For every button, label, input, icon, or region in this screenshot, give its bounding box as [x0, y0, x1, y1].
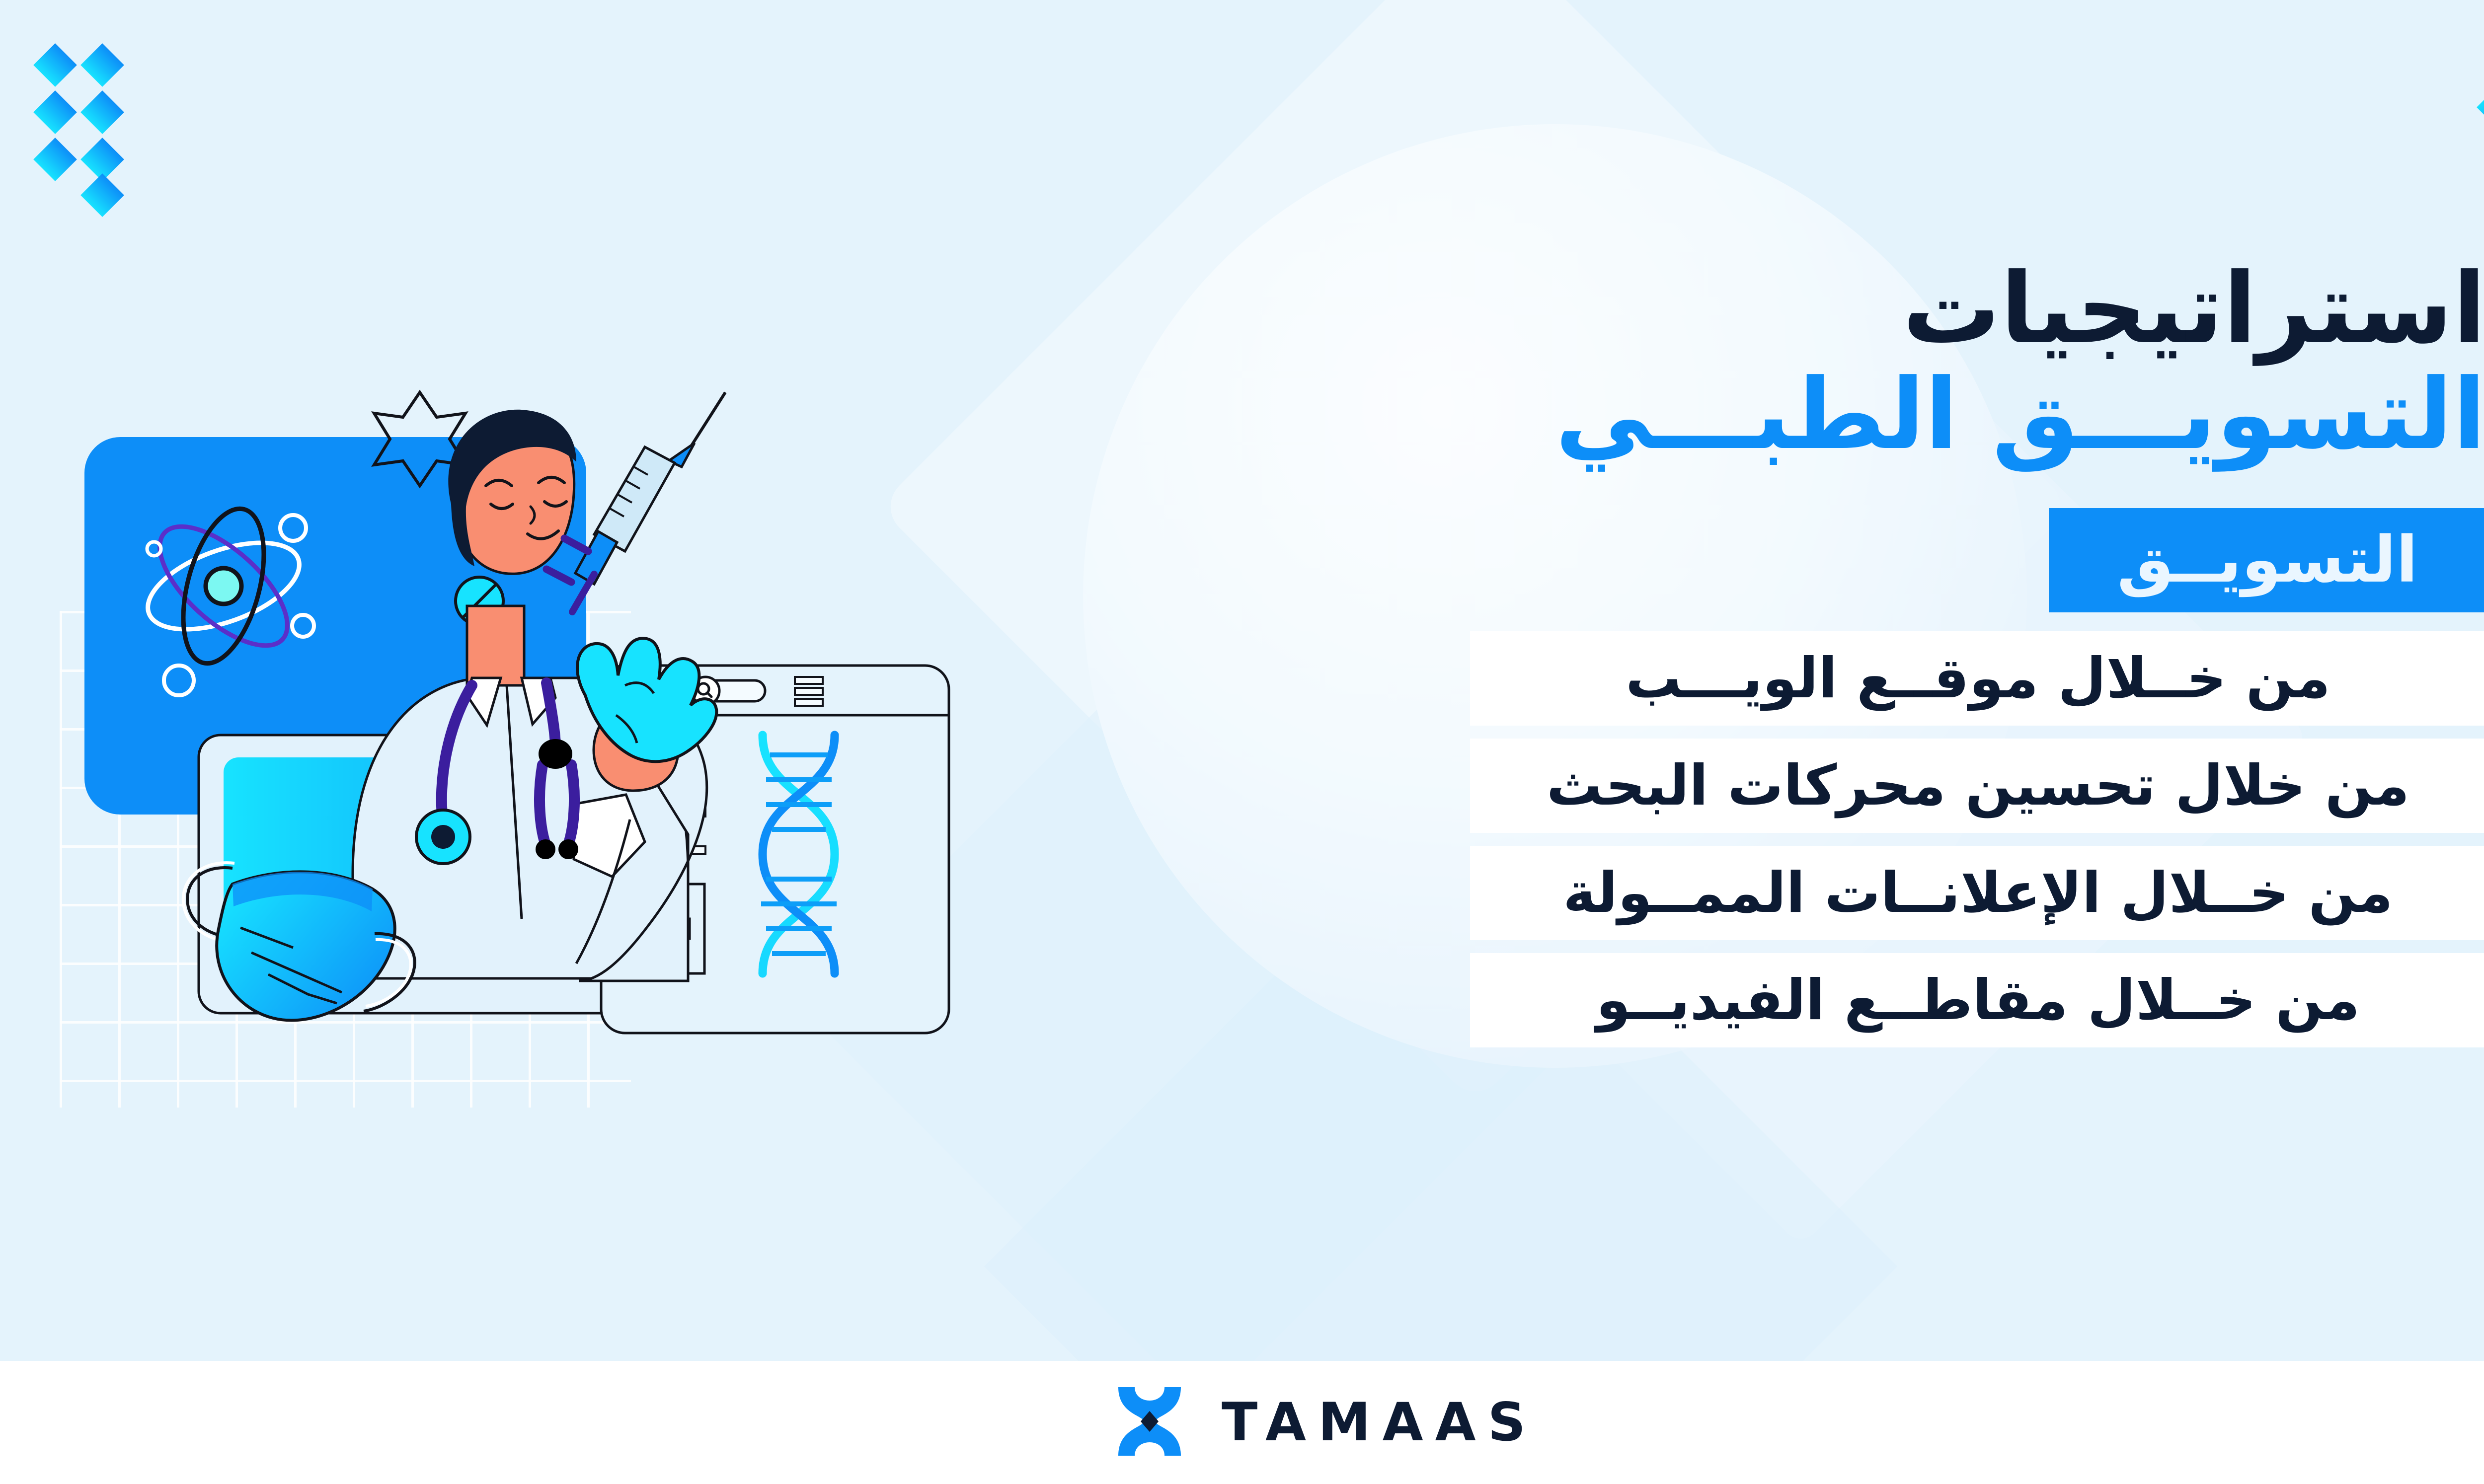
diamond-cluster-top-left — [35, 50, 174, 214]
banner-root: استراتيجيات التسويـــق الطبـــي التسويــ… — [0, 0, 2484, 1484]
diamond-cluster-top-right — [2467, 50, 2484, 149]
section-header-marketing: التسويــق — [2049, 508, 2484, 612]
content-column: استراتيجيات التسويـــق الطبـــي التسويــ… — [1433, 258, 2484, 1047]
tamaas-logo-icon — [1112, 1384, 1187, 1461]
diamond-icon — [80, 173, 124, 217]
hamburger-menu-icon — [795, 677, 823, 706]
diamond-icon — [2477, 85, 2484, 129]
footer-bar: TAMAAS — [0, 1361, 2484, 1484]
page-title-line2: التسويـــق الطبـــي — [1433, 361, 2484, 470]
list-item[interactable]: من خــلال موقــع الويـــب — [1470, 631, 2484, 726]
diamond-icon — [33, 90, 77, 134]
page-title-line1: استراتيجيات — [1433, 258, 2484, 361]
strategy-list: من خــلال موقــع الويـــب من خلال تحسين … — [1433, 631, 2484, 1047]
list-item[interactable]: من خلال تحسين محركات البحث — [1470, 739, 2484, 833]
list-item[interactable]: من خــلال الإعلانــات الممــولة — [1470, 846, 2484, 940]
diamond-icon — [33, 43, 77, 87]
diamond-icon — [80, 43, 124, 87]
brand-name: TAMAAS — [1210, 1396, 1538, 1449]
diamond-icon — [33, 138, 77, 181]
stethoscope-chestpiece — [416, 810, 470, 864]
list-item[interactable]: من خــلال مقاطــع الفيديــو — [1470, 953, 2484, 1047]
medical-illustration — [75, 387, 1118, 1182]
diamond-icon — [80, 90, 124, 134]
